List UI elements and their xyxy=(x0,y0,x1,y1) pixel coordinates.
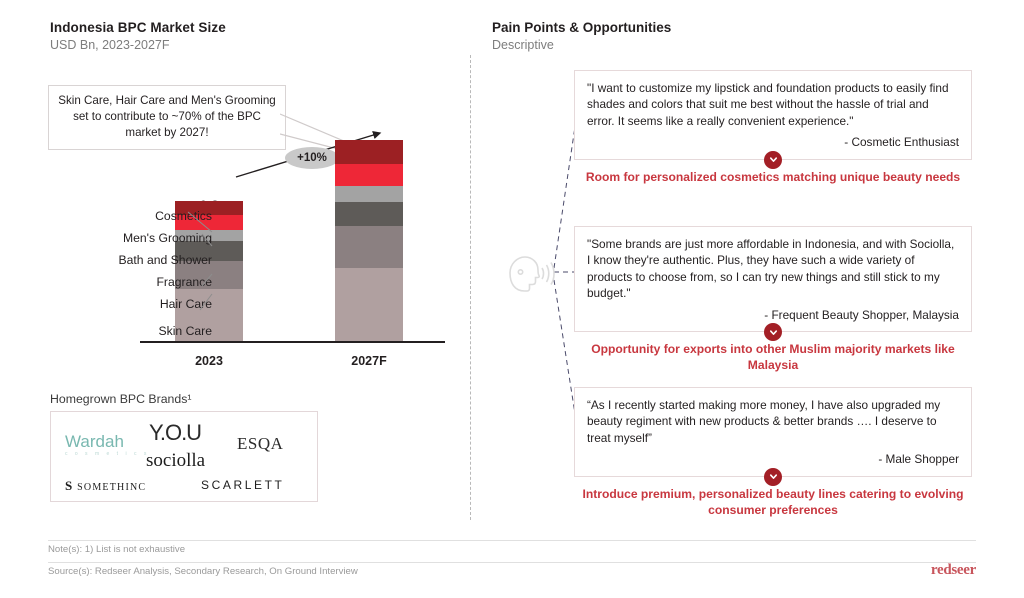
bar-segment-bath-and-shower xyxy=(335,186,403,202)
chevron-down-icon xyxy=(764,323,782,341)
footer: Note(s): 1) List is not exhaustive Sourc… xyxy=(0,528,1024,598)
brand-logo-esqa: ESQA xyxy=(237,434,283,454)
category-leader-lines xyxy=(186,204,232,329)
page-subtitle: USD Bn, 2023-2027F xyxy=(50,38,170,52)
bar-segment-cosmetics xyxy=(335,140,403,164)
stacked-bar-chart: 6-8 9-11 2023 2027F xyxy=(100,155,450,380)
page-title: Indonesia BPC Market Size xyxy=(50,20,226,35)
right-panel: Pain Points & Opportunities Descriptive … xyxy=(492,0,992,530)
quote-attribution-1: - Cosmetic Enthusiast xyxy=(587,134,959,150)
brands-section-title: Homegrown BPC Brands¹ xyxy=(50,392,191,406)
quote-group-1: "I want to customize my lipstick and fou… xyxy=(574,70,972,185)
bar-2027f xyxy=(335,140,403,341)
right-panel-title: Pain Points & Opportunities xyxy=(492,20,671,35)
takeaway-3: Introduce premium, personalized beauty l… xyxy=(574,486,972,518)
quote-text-3: “As I recently started making more money… xyxy=(587,398,940,445)
x-axis-tick-2023: 2023 xyxy=(175,354,243,368)
quote-box-2: "Some brands are just more affordable in… xyxy=(574,226,972,332)
head-with-soundwaves-icon xyxy=(500,248,560,298)
brand-logo-you: Y.O.U xyxy=(149,420,201,446)
quote-box-3: “As I recently started making more money… xyxy=(574,387,972,477)
slide-root: Indonesia BPC Market Size USD Bn, 2023-2… xyxy=(0,0,1024,598)
brands-logo-box: Wardah c o s m e t i c s Y.O.U ESQA soci… xyxy=(50,411,318,502)
brand-logo-sociolla: sociolla xyxy=(146,450,205,472)
redseer-logo: redseer xyxy=(931,562,976,579)
takeaway-1: Room for personalized cosmetics matching… xyxy=(574,169,972,185)
quote-attribution-3: - Male Shopper xyxy=(587,451,959,467)
footer-divider-top xyxy=(48,540,976,541)
chevron-down-icon xyxy=(764,151,782,169)
left-panel: Indonesia BPC Market Size USD Bn, 2023-2… xyxy=(0,0,470,530)
brand-logo-wardah: Wardah c o s m e t i c s xyxy=(65,432,149,457)
x-axis-line xyxy=(140,341,445,343)
right-panel-subtitle: Descriptive xyxy=(492,38,554,52)
takeaway-2: Opportunity for exports into other Musli… xyxy=(574,341,972,373)
bar-segment-fragrance xyxy=(335,202,403,226)
footer-divider-bottom xyxy=(48,562,976,563)
quote-text-1: "I want to customize my lipstick and fou… xyxy=(587,81,949,128)
quote-group-2: "Some brands are just more affordable in… xyxy=(574,226,972,373)
quote-box-1: "I want to customize my lipstick and fou… xyxy=(574,70,972,160)
brand-logo-scarlett: SCARLETT xyxy=(201,478,284,492)
chevron-down-icon xyxy=(764,468,782,486)
quote-attribution-2: - Frequent Beauty Shopper, Malaysia xyxy=(587,307,959,323)
vertical-divider xyxy=(470,55,471,520)
footer-source: Source(s): Redseer Analysis, Secondary R… xyxy=(48,566,358,577)
x-axis-tick-2027f: 2027F xyxy=(335,354,403,368)
quote-group-3: “As I recently started making more money… xyxy=(574,387,972,518)
bar-segment-hair-care xyxy=(335,226,403,268)
brand-logo-somethinc: S SOMETHINC xyxy=(65,478,146,494)
quote-text-2: "Some brands are just more affordable in… xyxy=(587,237,954,300)
footer-note: Note(s): 1) List is not exhaustive xyxy=(48,544,185,555)
bar-segment-skin-care xyxy=(335,268,403,341)
bar-segment-mens-grooming xyxy=(335,164,403,186)
